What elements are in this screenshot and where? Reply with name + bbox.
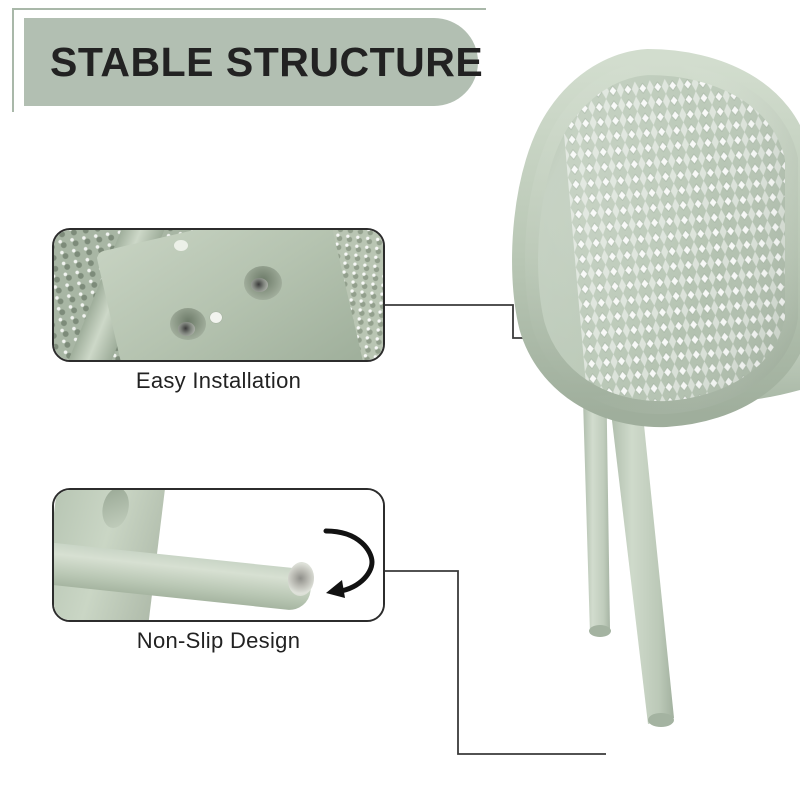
infographic-canvas: STABLE STRUCTURE Easy Installation bbox=[0, 0, 800, 800]
feature-card-easy-installation[interactable] bbox=[52, 228, 385, 362]
rotation-arrow-icon bbox=[312, 522, 383, 602]
photo-non-slip-design bbox=[54, 490, 383, 620]
backrest-shading bbox=[525, 62, 798, 414]
rear-leg-foot bbox=[589, 625, 611, 637]
screw-head-2 bbox=[251, 278, 268, 292]
front-leg-foot bbox=[648, 713, 674, 727]
post-recess bbox=[100, 490, 131, 528]
feature-caption-non-slip-design: Non-Slip Design bbox=[52, 628, 385, 654]
feature-card-non-slip-design[interactable] bbox=[52, 488, 385, 622]
screw-head-1 bbox=[178, 322, 195, 336]
marker-dot-center bbox=[210, 312, 222, 323]
mounting-bracket bbox=[96, 230, 365, 360]
feature-caption-easy-installation: Easy Installation bbox=[52, 368, 385, 394]
marker-dot-top bbox=[174, 240, 188, 251]
product-image-chair bbox=[498, 18, 800, 780]
photo-easy-installation bbox=[54, 230, 383, 360]
